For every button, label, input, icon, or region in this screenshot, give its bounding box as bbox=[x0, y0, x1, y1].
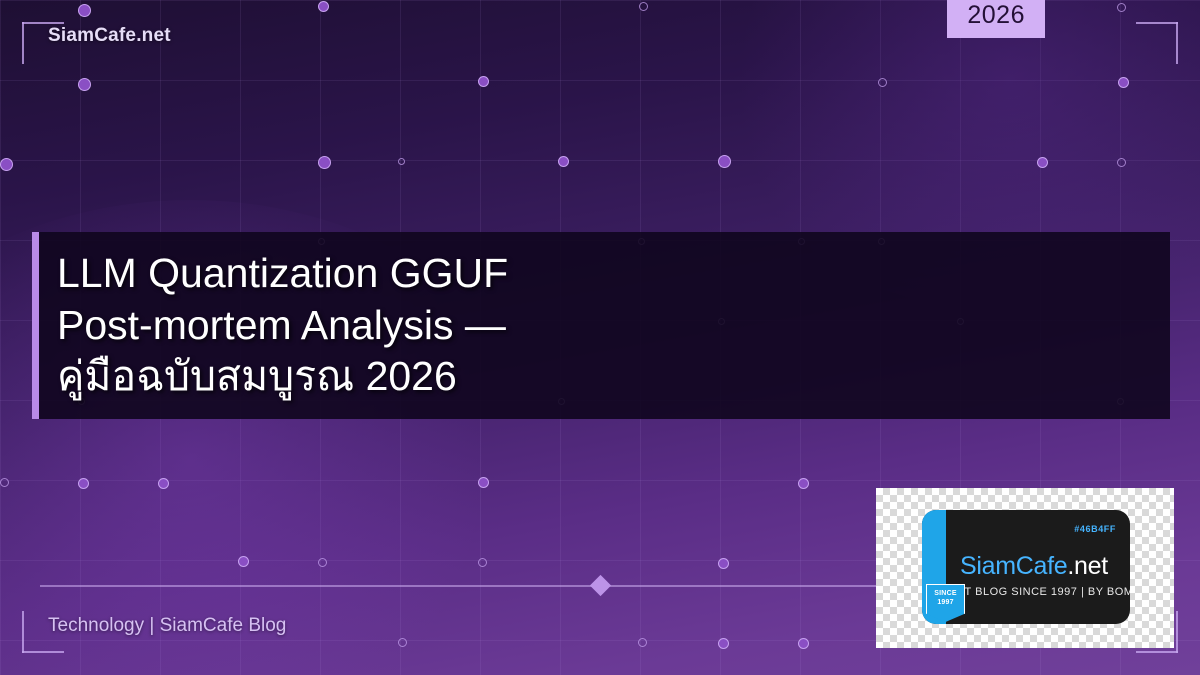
corner-bracket-top-right bbox=[1136, 22, 1178, 64]
footer-category-label: Technology | SiamCafe Blog bbox=[48, 615, 286, 637]
decorative-dot bbox=[478, 558, 487, 567]
decorative-dot bbox=[318, 558, 327, 567]
ribbon-line-2: 1997 bbox=[937, 599, 953, 608]
decorative-dot bbox=[1118, 77, 1129, 88]
logo-wordmark-main: SiamCafe bbox=[960, 552, 1067, 580]
decorative-dot bbox=[478, 76, 489, 87]
decorative-dot bbox=[158, 478, 169, 489]
title-panel: LLM Quantization GGUF Post-mortem Analys… bbox=[32, 232, 1170, 419]
logo-card: #46B4FF SiamCafe.net IT BLOG SINCE 1997 … bbox=[876, 488, 1174, 648]
diamond-marker-icon bbox=[590, 575, 611, 596]
year-badge: 2026 bbox=[947, 0, 1045, 38]
decorative-dot bbox=[638, 638, 647, 647]
decorative-dot bbox=[78, 78, 91, 91]
logo-hex-color-label: #46B4FF bbox=[1074, 524, 1116, 534]
decorative-dot bbox=[1037, 157, 1048, 168]
decorative-dot bbox=[238, 556, 249, 567]
decorative-dot bbox=[798, 638, 809, 649]
decorative-dot bbox=[1117, 3, 1126, 12]
decorative-dot bbox=[558, 156, 569, 167]
brand-name: SiamCafe.net bbox=[48, 25, 171, 47]
decorative-dot bbox=[0, 158, 13, 171]
decorative-dot bbox=[78, 4, 91, 17]
decorative-dot bbox=[639, 2, 648, 11]
decorative-dot bbox=[398, 638, 407, 647]
decorative-dot bbox=[718, 638, 729, 649]
decorative-dot bbox=[798, 478, 809, 489]
decorative-dot bbox=[0, 478, 9, 487]
decorative-dot bbox=[78, 478, 89, 489]
logo-tagline: IT BLOG SINCE 1997 | BY BOM bbox=[961, 586, 1130, 598]
decorative-dot bbox=[718, 558, 729, 569]
logo-inner-card: #46B4FF SiamCafe.net IT BLOG SINCE 1997 … bbox=[922, 510, 1130, 624]
logo-wordmark: SiamCafe.net bbox=[960, 552, 1108, 581]
decorative-dot bbox=[1117, 158, 1126, 167]
decorative-dot bbox=[318, 1, 329, 12]
decorative-dot bbox=[478, 477, 489, 488]
ribbon-line-1: SINCE bbox=[934, 590, 956, 599]
decorative-dot bbox=[878, 78, 887, 87]
decorative-dot bbox=[398, 158, 405, 165]
logo-wordmark-tld: .net bbox=[1067, 552, 1108, 580]
decorative-dot bbox=[718, 155, 731, 168]
page-title: LLM Quantization GGUF Post-mortem Analys… bbox=[32, 248, 508, 403]
hero-banner: SiamCafe.net 2026 LLM Quantization GGUF … bbox=[0, 0, 1200, 675]
decorative-dot bbox=[318, 156, 331, 169]
